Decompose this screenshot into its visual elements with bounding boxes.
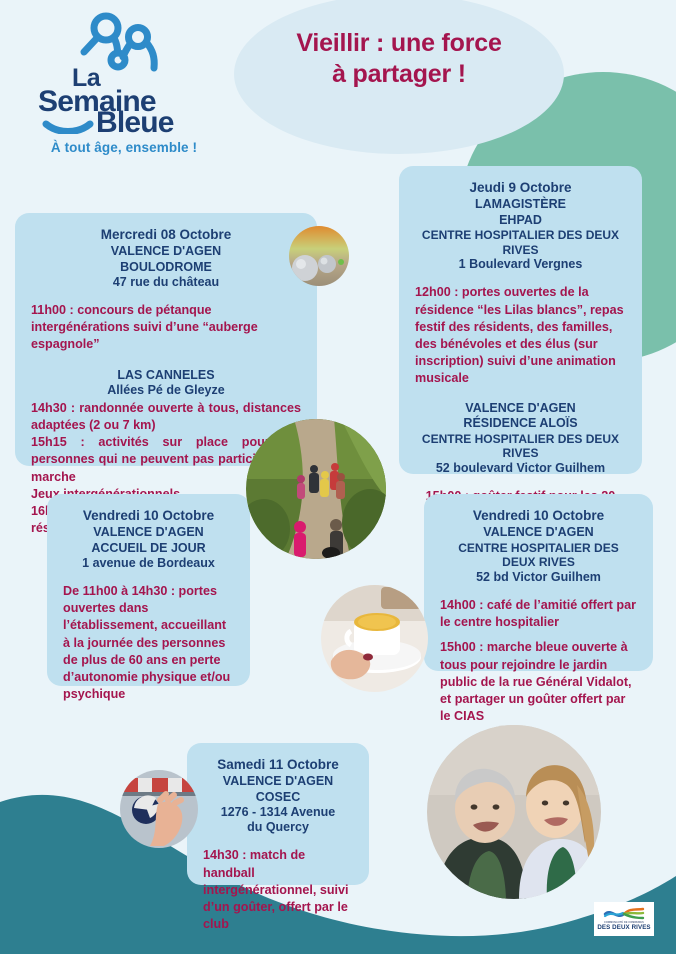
- event-header: Vendredi 10 Octobre VALENCE D'AGEN CENTR…: [440, 508, 637, 585]
- event-venue-2: CENTRE HOSPITALIER DES DEUX RIVES: [415, 228, 626, 257]
- des-deux-rives-logo-icon: [603, 907, 645, 921]
- petanque-balls-photo: [289, 226, 349, 286]
- event-venue: ACCUEIL DE JOUR: [63, 541, 234, 556]
- event-city: VALENCE D'AGEN: [31, 244, 301, 259]
- event-body: 14h00 : café de l’amitié offert par le c…: [440, 597, 637, 725]
- event-body: 12h00 : portes ouvertes de la résidence …: [415, 284, 626, 387]
- two-women-portrait-photo: [427, 725, 601, 899]
- event-address-2: Allées Pé de Gleyze: [31, 383, 301, 398]
- event-activity: 12h00 : portes ouvertes de la résidence …: [415, 284, 626, 387]
- page-title: Vieillir : une force à partager !: [234, 28, 564, 89]
- page-title-line1: Vieillir : une force: [296, 29, 501, 57]
- event-activity: 14h30 : match de handball intergénératio…: [203, 847, 353, 933]
- handball-player-photo: [120, 770, 198, 848]
- brand-tagline: À tout âge, ensemble !: [24, 140, 224, 155]
- event-address: 47 rue du château: [31, 275, 301, 290]
- hikers-on-path-photo: [246, 419, 386, 559]
- event-day: Vendredi 10 Octobre: [63, 508, 234, 524]
- event-activity: 14h30 : randonnée ouverte à tous, distan…: [31, 400, 301, 434]
- event-venue: EHPAD: [415, 213, 626, 228]
- logo-word-bleue: Bleue: [96, 106, 174, 134]
- event-subheader: VALENCE D'AGEN RÉSIDENCE ALOÏS CENTRE HO…: [415, 401, 626, 476]
- event-header: Mercredi 08 Octobre VALENCE D'AGEN BOULO…: [31, 227, 301, 290]
- event-city: VALENCE D'AGEN: [203, 774, 353, 789]
- des-deux-rives-logo: COMMUNAUTÉ DE COMMUNES DES DEUX RIVES: [594, 902, 654, 936]
- event-address: 1 Boulevard Vergnes: [415, 257, 626, 272]
- event-address: 1276 - 1314 Avenue: [203, 805, 353, 820]
- event-activity: 11h00 : concours de pétanque intergénéra…: [31, 302, 301, 353]
- event-venue: CENTRE HOSPITALIER DES DEUX RIVES: [440, 541, 637, 570]
- event-header: Jeudi 9 Octobre LAMAGISTÈRE EHPAD CENTRE…: [415, 180, 626, 272]
- event-address: 1 avenue de Bordeaux: [63, 556, 234, 571]
- event-activity: 15h00 : marche bleue ouverte à tous pour…: [440, 639, 637, 725]
- event-address: 52 bd Victor Guilhem: [440, 570, 637, 585]
- event-card-vendredi-hospitalier: Vendredi 10 Octobre VALENCE D'AGEN CENTR…: [424, 494, 653, 671]
- event-day: Jeudi 9 Octobre: [415, 180, 626, 196]
- event-card-samedi: Samedi 11 Octobre VALENCE D'AGEN COSEC 1…: [187, 743, 369, 885]
- event-header: Vendredi 10 Octobre VALENCE D'AGEN ACCUE…: [63, 508, 234, 571]
- event-venue: BOULODROME: [31, 260, 301, 275]
- logo-name: DES DEUX RIVES: [597, 925, 650, 931]
- event-subheader: LAS CANNELES Allées Pé de Gleyze: [31, 368, 301, 399]
- event-activity: 14h00 : café de l’amitié offert par le c…: [440, 597, 637, 631]
- event-venue-4: CENTRE HOSPITALIER DES DEUX RIVES: [415, 432, 626, 461]
- page-title-line2: à partager !: [332, 60, 466, 88]
- event-city: VALENCE D'AGEN: [440, 525, 637, 540]
- event-card-mercredi: Mercredi 08 Octobre VALENCE D'AGEN BOULO…: [15, 213, 317, 466]
- event-card-vendredi-accueil: Vendredi 10 Octobre VALENCE D'AGEN ACCUE…: [47, 494, 250, 686]
- smile-curve-icon: [46, 124, 90, 132]
- event-card-jeudi: Jeudi 9 Octobre LAMAGISTÈRE EHPAD CENTRE…: [399, 166, 642, 474]
- semaine-bleue-logo: La Semaine Bleue À tout âge, ensemble !: [24, 12, 224, 155]
- two-people-figures-icon: La Semaine Bleue: [34, 12, 214, 134]
- event-day: Mercredi 08 Octobre: [31, 227, 301, 243]
- event-address-2: 52 boulevard Victor Guilhem: [415, 461, 626, 476]
- event-body: 14h30 : match de handball intergénératio…: [203, 847, 353, 933]
- event-venue-3: RÉSIDENCE ALOÏS: [415, 416, 626, 431]
- poster-root: La Semaine Bleue À tout âge, ensemble ! …: [0, 0, 676, 954]
- event-body: 11h00 : concours de pétanque intergénéra…: [31, 302, 301, 353]
- poster-header: La Semaine Bleue À tout âge, ensemble ! …: [0, 0, 676, 180]
- event-city-2: VALENCE D'AGEN: [415, 401, 626, 416]
- event-venue: COSEC: [203, 790, 353, 805]
- event-venue-2: LAS CANNELES: [31, 368, 301, 383]
- event-header: Samedi 11 Octobre VALENCE D'AGEN COSEC 1…: [203, 757, 353, 835]
- event-day: Samedi 11 Octobre: [203, 757, 353, 773]
- event-body: De 11h00 à 14h30 : portes ouvertes dans …: [63, 583, 234, 703]
- tea-cup-in-hand-photo: [321, 585, 428, 692]
- event-city: VALENCE D'AGEN: [63, 525, 234, 540]
- event-city: LAMAGISTÈRE: [415, 197, 626, 212]
- event-activity: De 11h00 à 14h30 : portes ouvertes dans …: [63, 583, 234, 703]
- event-day: Vendredi 10 Octobre: [440, 508, 637, 524]
- event-address-2: du Quercy: [203, 820, 353, 835]
